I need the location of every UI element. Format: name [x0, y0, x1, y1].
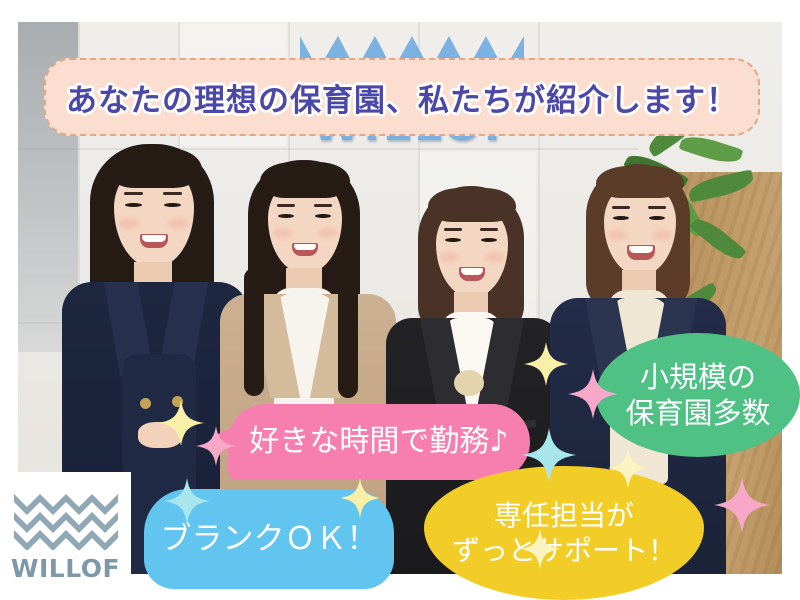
- eyebrow: [277, 204, 295, 207]
- teeth: [461, 268, 483, 275]
- sparkle-icon: [520, 524, 560, 574]
- bubble-green-line2: 保育園多数: [625, 395, 770, 431]
- sparkle-icon: [524, 336, 568, 392]
- eye: [481, 238, 497, 242]
- zigzag-icon: [14, 490, 118, 550]
- sparkle-icon: [568, 362, 618, 426]
- willof-logo: WILLOF: [0, 472, 131, 600]
- bubble-yellow-line2: ずっとサポート！: [452, 533, 676, 568]
- eyebrow: [480, 228, 498, 231]
- teeth: [142, 235, 166, 242]
- sparkle-icon: [340, 470, 380, 526]
- hair-bangs: [106, 148, 202, 188]
- sparkle-icon: [608, 444, 648, 492]
- bubble-flexible-hours: 好きな時間で勤務♪: [228, 404, 530, 480]
- eye: [278, 214, 294, 218]
- blush: [168, 218, 188, 229]
- sparkle-icon: [522, 428, 576, 482]
- eye: [315, 214, 331, 218]
- poster-canvas: WILLOF: [0, 0, 800, 600]
- eyebrow: [444, 228, 462, 231]
- eyebrow: [314, 204, 332, 207]
- logo-wordmark: WILLOF: [11, 554, 120, 583]
- blush: [653, 230, 672, 240]
- eyebrow: [124, 192, 143, 195]
- teeth: [629, 246, 653, 253]
- bubble-dedicated-support: 専任担当が ずっとサポート！: [424, 466, 704, 600]
- bubble-yellow-line1: 専任担当が: [452, 498, 676, 533]
- eye: [649, 216, 665, 220]
- eye: [164, 203, 181, 207]
- blush: [440, 252, 459, 262]
- bubble-small-nurseries: 小規模の 保育園多数: [596, 333, 800, 457]
- blush: [485, 252, 504, 262]
- bubble-green-line1: 小規模の: [625, 359, 770, 395]
- hair-bangs: [596, 166, 684, 198]
- headline-banner: あなたの理想の保育園、私たちが紹介します！: [44, 58, 760, 136]
- blush: [318, 228, 337, 238]
- hair-strand: [244, 268, 264, 396]
- eyebrow: [163, 192, 182, 195]
- blush: [608, 230, 627, 240]
- hair-strand: [338, 266, 358, 398]
- bubble-pink-text: 好きな時間で勤務♪: [249, 423, 508, 461]
- eye: [613, 216, 629, 220]
- eye: [125, 203, 142, 207]
- teeth: [294, 244, 316, 250]
- blush: [119, 218, 139, 229]
- eye: [445, 238, 461, 242]
- blazer-button: [140, 398, 151, 409]
- hair-bangs: [260, 162, 350, 198]
- headline-text: あなたの理想の保育園、私たちが紹介します！: [66, 75, 738, 120]
- hair-bangs: [428, 188, 516, 222]
- sparkle-icon: [196, 420, 236, 472]
- eyebrow: [648, 206, 666, 209]
- sparkle-icon: [714, 470, 770, 540]
- brooch: [454, 370, 484, 396]
- blush: [273, 228, 292, 238]
- eyebrow: [612, 206, 630, 209]
- sparkle-icon: [164, 478, 210, 524]
